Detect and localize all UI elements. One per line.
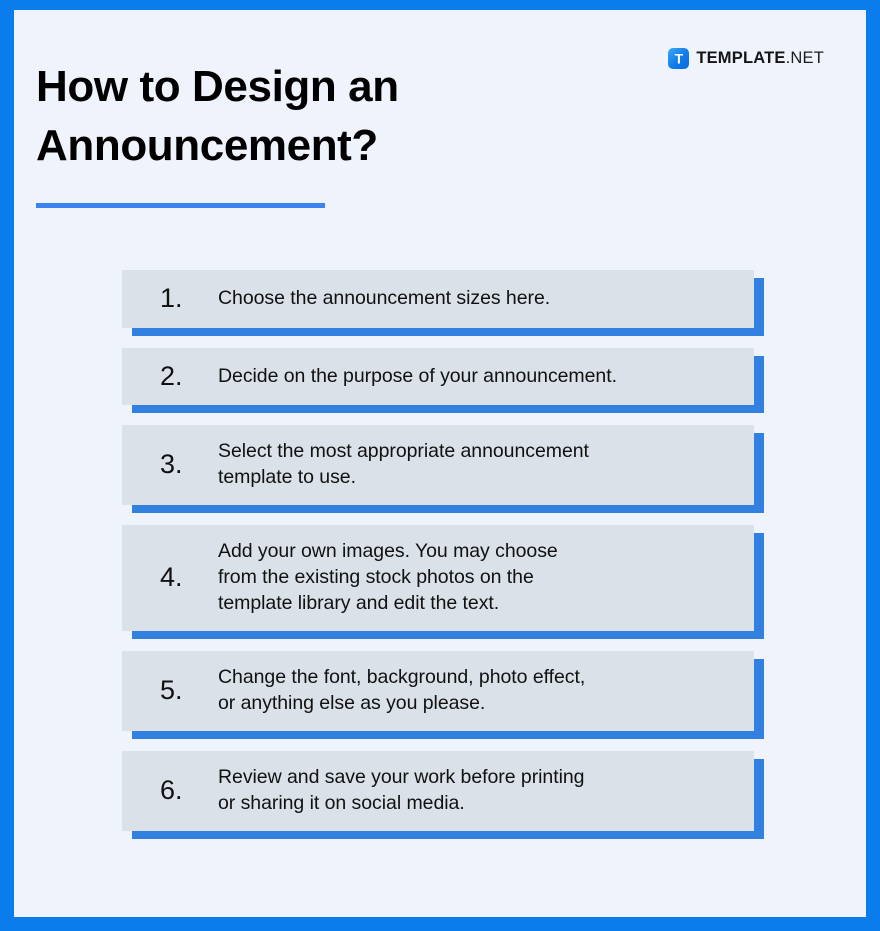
step-number: 2. [160, 362, 218, 392]
step-number: 5. [160, 676, 218, 706]
list-item: 5. Change the font, background, photo ef… [122, 651, 774, 731]
brand-tld: .NET [786, 49, 824, 67]
brand-mark-letter: T [675, 51, 683, 65]
step-card: 5. Change the font, background, photo ef… [122, 651, 754, 731]
list-item: 4. Add your own images. You may choose f… [122, 525, 774, 631]
step-text: Choose the announcement sizes here. [218, 286, 736, 312]
list-item: 3. Select the most appropriate announcem… [122, 425, 774, 505]
step-text: Decide on the purpose of your announceme… [218, 364, 736, 390]
step-card: 2. Decide on the purpose of your announc… [122, 348, 754, 406]
list-item: 2. Decide on the purpose of your announc… [122, 348, 774, 406]
step-number: 4. [160, 563, 218, 593]
steps-list: 1. Choose the announcement sizes here. 2… [122, 270, 774, 831]
step-text: Add your own images. You may choose from… [218, 539, 736, 617]
step-text: Review and save your work before printin… [218, 765, 736, 817]
step-number: 1. [160, 284, 218, 314]
step-text: Change the font, background, photo effec… [218, 665, 736, 717]
brand-logo: T TEMPLATE.NET [668, 48, 824, 69]
step-card: 1. Choose the announcement sizes here. [122, 270, 754, 328]
step-number: 6. [160, 776, 218, 806]
step-card: 6. Review and save your work before prin… [122, 751, 754, 831]
page-frame: T TEMPLATE.NET How to Design an Announce… [0, 0, 880, 931]
template-t-icon: T [668, 48, 689, 69]
step-card: 4. Add your own images. You may choose f… [122, 525, 754, 631]
step-card: 3. Select the most appropriate announcem… [122, 425, 754, 505]
page-title: How to Design an Announcement? [36, 58, 596, 175]
title-underline-rule [36, 203, 325, 208]
brand-wordmark: TEMPLATE.NET [696, 49, 824, 68]
list-item: 1. Choose the announcement sizes here. [122, 270, 774, 328]
page-canvas: T TEMPLATE.NET How to Design an Announce… [14, 10, 866, 917]
step-number: 3. [160, 450, 218, 480]
list-item: 6. Review and save your work before prin… [122, 751, 774, 831]
brand-word: TEMPLATE [696, 49, 785, 67]
step-text: Select the most appropriate announcement… [218, 439, 736, 491]
